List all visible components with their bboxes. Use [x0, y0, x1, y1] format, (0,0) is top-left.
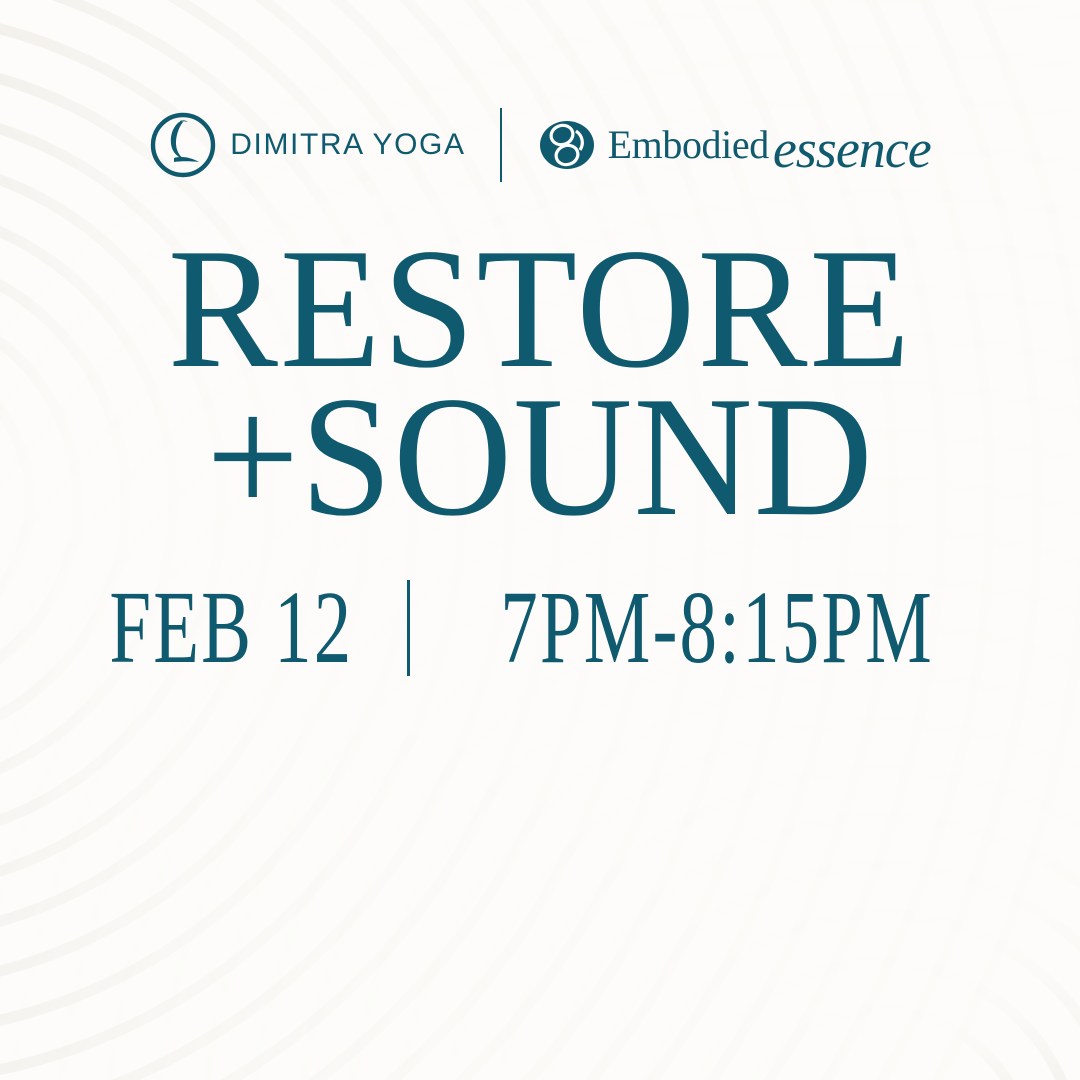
event-title: RESTORE +SOUND — [0, 236, 1080, 532]
circle-figure-mark — [149, 111, 217, 179]
dimitra-yoga-logo[interactable]: DIMITRA YOGA — [149, 111, 465, 179]
embodied-essence-logo[interactable]: Embodied essence — [536, 114, 931, 176]
flyer-canvas: DIMITRA YOGA Embodied essence RESTORE +S… — [0, 0, 1080, 1080]
event-date: FEB 12 — [109, 576, 353, 680]
embodied-wordmark: Embodied — [608, 125, 769, 165]
datetime-separator — [407, 580, 410, 676]
dimitra-yoga-wordmark: DIMITRA YOGA — [230, 130, 465, 160]
logo-divider — [500, 108, 502, 182]
event-datetime: FEB 12 7PM-8:15PM — [0, 576, 1080, 680]
logo-lockup: DIMITRA YOGA Embodied essence — [0, 104, 1080, 186]
title-line-2: +SOUND — [22, 384, 1059, 532]
essence-wordmark: essence — [773, 122, 931, 176]
event-time: 7PM-8:15PM — [500, 576, 934, 680]
interlocking-ee-monogram — [536, 114, 598, 176]
